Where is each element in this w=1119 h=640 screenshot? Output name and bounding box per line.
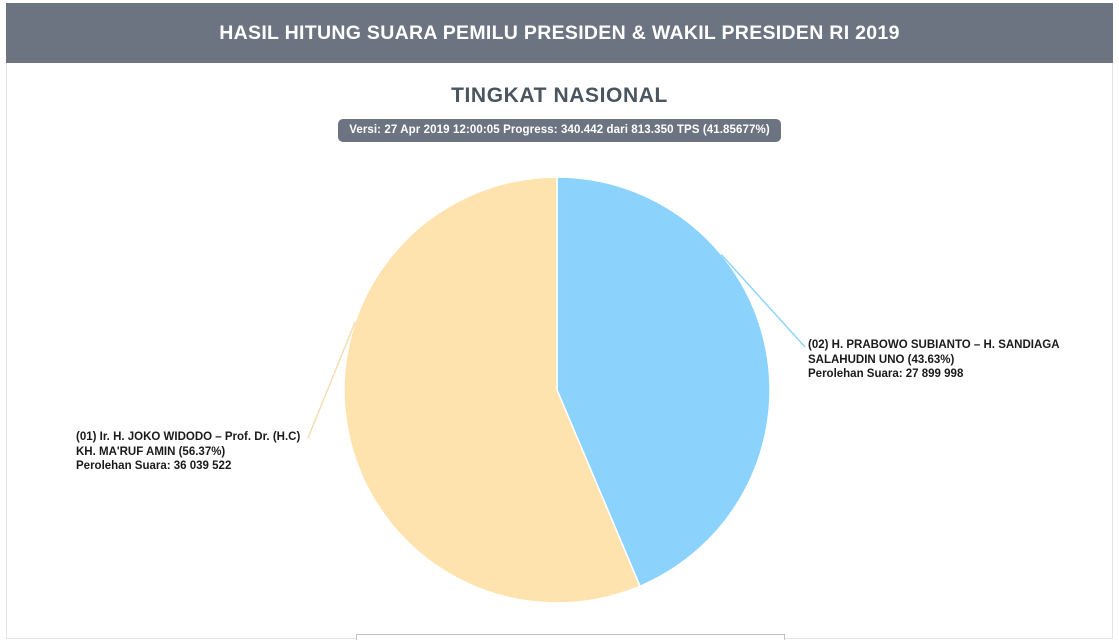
pie-label-candidate-01: (01) Ir. H. JOKO WIDODO – Prof. Dr. (H.C… — [76, 430, 300, 474]
pie-label-candidate-02-line1: (02) H. PRABOWO SUBIANTO – H. SANDIAGA — [808, 338, 1060, 353]
pie-label-candidate-02-line3: Perolehan Suara: 27 899 998 — [808, 367, 1060, 382]
chart-subtitle: TINGKAT NASIONAL — [0, 84, 1119, 108]
pie-label-candidate-02-line2: SALAHUDIN UNO (43.63%) — [808, 353, 1060, 368]
pie-label-candidate-02: (02) H. PRABOWO SUBIANTO – H. SANDIAGA S… — [808, 338, 1060, 382]
app-header-bar: HASIL HITUNG SUARA PEMILU PRESIDEN & WAK… — [6, 3, 1113, 63]
status-badge: Versi: 27 Apr 2019 12:00:05 Progress: 34… — [338, 119, 781, 142]
pie-label-candidate-01-line3: Perolehan Suara: 36 039 522 — [76, 459, 300, 474]
pie-label-candidate-01-line2: KH. MA'RUF AMIN (56.37%) — [76, 445, 300, 460]
bottom-panel-edge — [356, 634, 785, 640]
page-title: HASIL HITUNG SUARA PEMILU PRESIDEN & WAK… — [219, 22, 899, 45]
pie-label-candidate-01-line1: (01) Ir. H. JOKO WIDODO – Prof. Dr. (H.C… — [76, 430, 300, 445]
status-badge-row: Versi: 27 Apr 2019 12:00:05 Progress: 34… — [0, 119, 1119, 142]
